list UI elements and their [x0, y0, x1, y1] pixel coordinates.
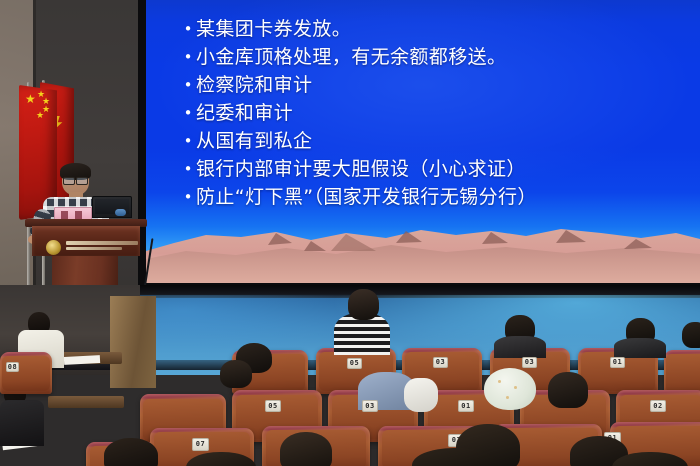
side-wall-panel [110, 296, 156, 388]
laptop-mouse [115, 209, 126, 216]
projection-screen: • 某集团卡券发放。 • 小金库顶格处理，有无余额都移送。 • 检察院和审计 •… [146, 0, 700, 283]
seat-number-plate: 08 [6, 362, 19, 372]
lecture-hall-photo: ★ ★ ★ ★ ★ • 某集团卡券发放。 • 小金库顶格处理，有无余额都移送。 … [0, 0, 700, 466]
slide-bullet-text: 检察院和审计 [196, 72, 312, 99]
slide-bullet-text: 小金库顶格处理，有无余额都移送。 [196, 44, 506, 71]
seat-number-plate-02m: 02 [650, 400, 666, 412]
slide-bullet-6: • 银行内部审计要大胆假设（小心求证） [180, 156, 700, 183]
side-desk-lower [48, 396, 124, 408]
slide-bullet-text: 纪委和审计 [196, 100, 293, 127]
slide-bullet-4: • 纪委和审计 [180, 100, 700, 127]
slide-mountain-graphic [146, 221, 700, 283]
audience-head [220, 360, 252, 388]
seat-number-plate-03: 03 [433, 357, 448, 368]
slide-bullet-2: • 小金库顶格处理，有无余额都移送。 [180, 44, 700, 71]
presenter-laptop [92, 196, 132, 218]
slide-bullet-text: 银行内部审计要大胆假设（小心求证） [196, 156, 526, 183]
audience-head [682, 322, 700, 348]
podium-institution-text [66, 241, 138, 254]
seat-number-plate-05m: 05 [265, 400, 281, 412]
institution-seal-icon [46, 240, 61, 255]
bullet-marker-icon: • [180, 128, 196, 155]
bullet-marker-icon: • [180, 72, 196, 99]
slide-bullet-1: • 某集团卡券发放。 [180, 16, 700, 43]
slide-bullet-text: 从国有到私企 [196, 128, 312, 155]
seat-number-plate-01m: 01 [458, 400, 474, 412]
seat-number-plate-07: 07 [192, 438, 209, 451]
audience-head [104, 438, 158, 466]
bullet-marker-icon: • [180, 44, 196, 71]
attendee-body [0, 400, 44, 446]
seat-number-plate-05: 05 [347, 358, 362, 369]
bullet-marker-icon: • [180, 184, 196, 211]
slide-bullet-3: • 检察院和审计 [180, 72, 700, 99]
seat-number-plate-03m: 03 [362, 400, 378, 412]
audience-head [280, 432, 332, 466]
audience-middle-1 [202, 360, 268, 410]
bullet-marker-icon: • [180, 156, 196, 183]
glasses-icon [63, 177, 88, 183]
slide-bullet-7: • 防止“灯下黑”（国家开发银行无锡分行） [180, 184, 700, 211]
slide-bullet-text: 防止“灯下黑”（国家开发银行无锡分行） [196, 184, 537, 211]
audience-white-sleeve [404, 378, 438, 412]
podium-front-panel [32, 226, 140, 256]
seat-number-plate-03b: 03 [522, 357, 537, 368]
seat-number-plate-01: 01 [610, 357, 625, 368]
audience-head [348, 289, 379, 320]
side-seat [0, 352, 52, 394]
bullet-marker-icon: • [180, 16, 196, 43]
slide-bullet-text: 某集团卡券发放。 [196, 16, 351, 43]
audience-shoulders [614, 338, 666, 358]
bullet-marker-icon: • [180, 100, 196, 127]
audience-head [548, 372, 588, 408]
slide-bullet-5: • 从国有到私企 [180, 128, 700, 155]
audience-white-bucket-hat [484, 368, 536, 410]
slide-bullet-list: • 某集团卡券发放。 • 小金库顶格处理，有无余额都移送。 • 检察院和审计 •… [180, 16, 700, 212]
audience-shoulders [494, 336, 546, 358]
